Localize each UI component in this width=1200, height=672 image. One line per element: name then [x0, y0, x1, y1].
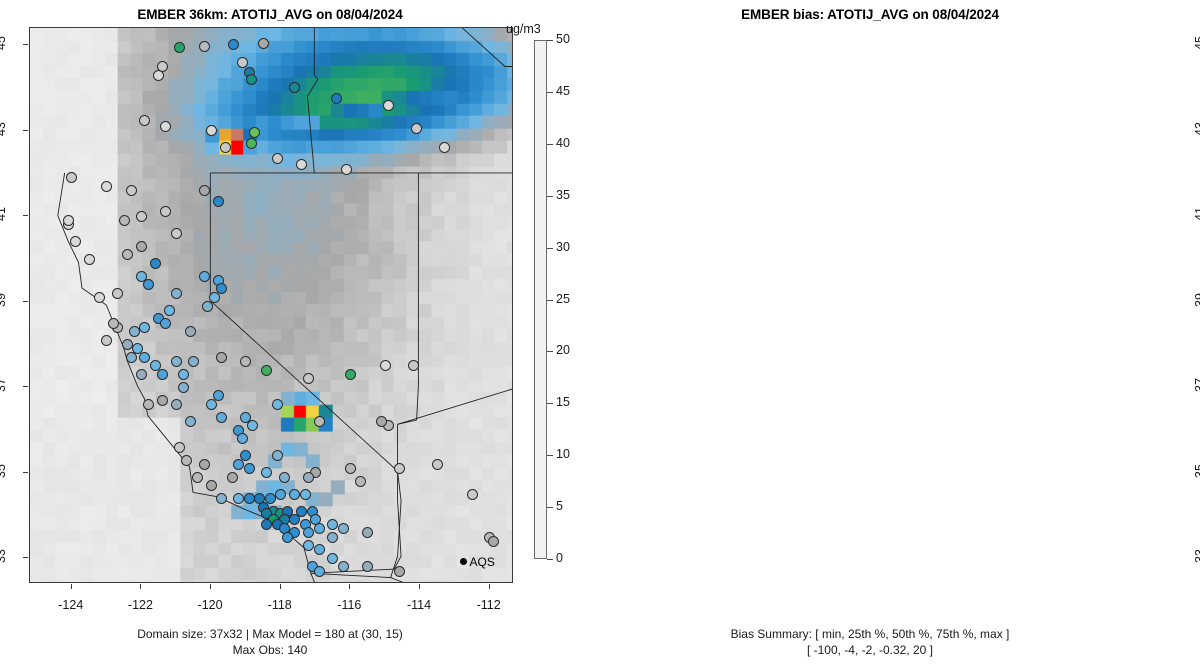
left-panel-title: EMBER 36km: ATOTIJ_AVG on 08/04/2024 [0, 7, 540, 22]
aqs-station-marker [66, 172, 77, 183]
colorbar-tick-label: 35 [556, 188, 570, 202]
aqs-station-marker [327, 519, 338, 530]
aqs-station-marker [237, 433, 248, 444]
right-caption-line2: [ -100, -4, -2, -0.32, 20 ] [600, 642, 1140, 658]
colorbar-tick-label: 5 [556, 499, 563, 513]
colorbar-tick [547, 559, 553, 560]
aqs-station-marker [112, 288, 123, 299]
y-tick [23, 301, 28, 302]
aqs-station-marker [139, 322, 150, 333]
aqs-station-marker [181, 455, 192, 466]
aqs-station-marker [171, 288, 182, 299]
colorbar-tick [547, 248, 553, 249]
aqs-station-marker [227, 472, 238, 483]
aqs-station-marker [157, 369, 168, 380]
aqs-station-marker [206, 480, 217, 491]
aqs-legend-label: AQS [470, 555, 495, 569]
y-tick-label: 45 [1193, 23, 1200, 63]
colorbar-tick-label: 15 [556, 395, 570, 409]
aqs-station-marker [331, 93, 342, 104]
x-tick [71, 584, 72, 589]
y-tick-label: 45 [0, 23, 8, 63]
aqs-station-marker [432, 459, 443, 470]
colorbar-tick [547, 92, 553, 93]
y-tick-label: 39 [0, 280, 8, 320]
y-tick-label: 33 [1193, 536, 1200, 576]
aqs-station-marker [160, 318, 171, 329]
aqs-station-marker [160, 206, 171, 217]
aqs-station-marker [237, 57, 248, 68]
y-tick-label: 33 [0, 536, 8, 576]
aqs-station-marker [300, 489, 311, 500]
y-tick [23, 215, 28, 216]
right-caption: Bias Summary: [ min, 25th %, 50th %, 75t… [600, 626, 1140, 658]
y-tick-label: 41 [0, 194, 8, 234]
aqs-station-marker [185, 326, 196, 337]
aqs-station-marker [338, 561, 349, 572]
aqs-station-marker [383, 100, 394, 111]
aqs-station-marker [314, 544, 325, 555]
aqs-station-marker [160, 121, 171, 132]
x-tick-label: -120 [180, 598, 240, 612]
y-tick-label: 43 [1193, 109, 1200, 149]
aqs-station-marker [174, 42, 185, 53]
aqs-station-marker [228, 39, 239, 50]
aqs-station-marker [213, 196, 224, 207]
aqs-station-marker [206, 125, 217, 136]
aqs-station-marker [129, 326, 140, 337]
aqs-station-marker [150, 258, 161, 269]
aqs-station-marker [119, 215, 130, 226]
aqs-station-marker [240, 356, 251, 367]
bias-panel: EMBER bias: ATOTIJ_AVG on 08/04/2024 AQS… [600, 0, 1200, 672]
aqs-station-marker [247, 420, 258, 431]
aqs-station-marker [84, 254, 95, 265]
colorbar-tick-label: 10 [556, 447, 570, 461]
aqs-station-marker [467, 489, 478, 500]
aqs-station-marker [171, 228, 182, 239]
aqs-station-marker [101, 181, 112, 192]
aqs-station-marker [279, 472, 290, 483]
aqs-station-marker [157, 395, 168, 406]
colorbar-tick [547, 403, 553, 404]
y-tick [23, 386, 28, 387]
x-tick-label: -118 [250, 598, 310, 612]
colorbar-tick-label: 45 [556, 84, 570, 98]
aqs-station-marker [249, 127, 260, 138]
aqs-station-marker [355, 476, 366, 487]
aqs-station-marker [233, 493, 244, 504]
aqs-station-marker [244, 463, 255, 474]
aqs-station-marker [216, 493, 227, 504]
aqs-station-marker [192, 472, 203, 483]
colorbar-tick-label: 25 [556, 292, 570, 306]
y-tick-label: 37 [1193, 365, 1200, 405]
y-tick [23, 44, 28, 45]
aqs-station-marker [136, 369, 147, 380]
model-panel: EMBER 36km: ATOTIJ_AVG on 08/04/2024 AQS… [0, 0, 600, 672]
y-tick-label: 43 [0, 109, 8, 149]
aqs-station-marker [258, 38, 269, 49]
aqs-station-marker [171, 356, 182, 367]
y-tick [23, 557, 28, 558]
aqs-station-marker [220, 142, 231, 153]
colorbar-tick [547, 196, 553, 197]
aqs-station-marker [272, 153, 283, 164]
colorbar-tick-label: 30 [556, 240, 570, 254]
aqs-station-marker [272, 450, 283, 461]
aqs-station-marker [275, 489, 286, 500]
colorbar-tick [547, 455, 553, 456]
aqs-station-marker [303, 373, 314, 384]
aqs-station-marker [136, 211, 147, 222]
aqs-station-marker [394, 463, 405, 474]
left-caption-line2: Max Obs: 140 [0, 642, 540, 658]
aqs-station-marker [246, 74, 257, 85]
aqs-station-marker [143, 399, 154, 410]
aqs-station-marker [171, 399, 182, 410]
aqs-station-marker [206, 399, 217, 410]
aqs-station-marker [122, 339, 133, 350]
y-tick [23, 130, 28, 131]
aqs-station-marker [174, 442, 185, 453]
aqs-station-marker [380, 360, 391, 371]
x-tick-label: -116 [319, 598, 379, 612]
aqs-station-marker [296, 159, 307, 170]
colorbar-tick [547, 300, 553, 301]
right-panel-title: EMBER bias: ATOTIJ_AVG on 08/04/2024 [600, 7, 1140, 22]
aqs-station-marker [185, 416, 196, 427]
aqs-station-marker [178, 382, 189, 393]
aqs-station-marker [199, 185, 210, 196]
aqs-station-marker [199, 271, 210, 282]
aqs-station-marker [101, 335, 112, 346]
y-tick-label: 41 [1193, 194, 1200, 234]
colorbar-tick [547, 507, 553, 508]
right-caption-line1: Bias Summary: [ min, 25th %, 50th %, 75t… [731, 627, 1010, 641]
aqs-station-marker [439, 142, 450, 153]
aqs-station-marker [244, 493, 255, 504]
colorbar-units-left: ug/m3 [506, 22, 541, 36]
aqs-station-marker [261, 519, 272, 530]
aqs-station-marker [216, 352, 227, 363]
x-tick [280, 584, 281, 589]
colorbar-tick-label: 50 [556, 32, 570, 46]
aqs-station-marker [314, 416, 325, 427]
aqs-station-marker [314, 523, 325, 534]
aqs-station-marker [143, 279, 154, 290]
aqs-station-marker [289, 489, 300, 500]
aqs-station-marker [488, 536, 499, 547]
colorbar-tick [547, 144, 553, 145]
aqs-station-marker [362, 527, 373, 538]
aqs-station-marker [282, 532, 293, 543]
aqs-station-marker [314, 566, 325, 577]
aqs-station-marker [233, 459, 244, 470]
aqs-station-marker [126, 185, 137, 196]
x-tick [210, 584, 211, 589]
colorbar-tick-label: 0 [556, 551, 563, 565]
aqs-station-marker [341, 164, 352, 175]
aqs-station-marker [272, 399, 283, 410]
aqs-station-marker [63, 215, 74, 226]
aqs-station-marker [94, 292, 105, 303]
y-tick-label: 35 [1193, 451, 1200, 491]
aqs-station-marker [164, 305, 175, 316]
aqs-station-marker [139, 352, 150, 363]
y-tick-label: 39 [1193, 280, 1200, 320]
aqs-station-marker [136, 241, 147, 252]
aqs-station-marker [345, 463, 356, 474]
left-caption: Domain size: 37x32 | Max Model = 180 at … [0, 626, 540, 658]
aqs-station-marker [408, 360, 419, 371]
aqs-station-marker [327, 532, 338, 543]
aqs-station-marker [289, 514, 300, 525]
aqs-station-marker [199, 459, 210, 470]
x-tick [349, 584, 350, 589]
x-tick-label: -122 [110, 598, 170, 612]
aqs-station-marker [411, 123, 422, 134]
aqs-station-marker [70, 236, 81, 247]
x-tick-label: -112 [459, 598, 519, 612]
aqs-station-marker [303, 472, 314, 483]
aqs-station-marker [327, 553, 338, 564]
aqs-station-marker [108, 318, 119, 329]
aqs-station-marker [394, 566, 405, 577]
y-tick-label: 37 [0, 365, 8, 405]
aqs-station-marker [345, 369, 356, 380]
aqs-station-marker [153, 70, 164, 81]
x-tick [140, 584, 141, 589]
y-tick [23, 472, 28, 473]
aqs-station-marker [139, 115, 150, 126]
aqs-station-marker [178, 369, 189, 380]
x-tick [489, 584, 490, 589]
aqs-station-marker [122, 249, 133, 260]
y-tick-label: 35 [0, 451, 8, 491]
colorbar-tick-label: 20 [556, 343, 570, 357]
aqs-station-marker [261, 467, 272, 478]
aqs-station-marker [216, 412, 227, 423]
colorbar-tick [547, 40, 553, 41]
x-tick-label: -124 [41, 598, 101, 612]
aqs-station-marker [202, 301, 213, 312]
left-caption-line1: Domain size: 37x32 | Max Model = 180 at … [137, 627, 403, 641]
colorbar-tick-label: 40 [556, 136, 570, 150]
colorbar-tick [547, 351, 553, 352]
aqs-station-marker [261, 365, 272, 376]
aqs-station-marker [362, 561, 373, 572]
aqs-station-markers-left [30, 28, 512, 582]
aqs-station-marker [303, 527, 314, 538]
aqs-station-marker [188, 356, 199, 367]
x-tick-label: -114 [389, 598, 449, 612]
x-tick [419, 584, 420, 589]
aqs-station-marker [199, 41, 210, 52]
aqs-station-marker [246, 138, 257, 149]
aqs-station-marker [289, 82, 300, 93]
aqs-station-marker [126, 352, 137, 363]
aqs-station-marker [303, 540, 314, 551]
model-map-plot: AQS [29, 27, 513, 583]
colorbar-gradient-left [534, 40, 547, 559]
aqs-station-marker [338, 523, 349, 534]
